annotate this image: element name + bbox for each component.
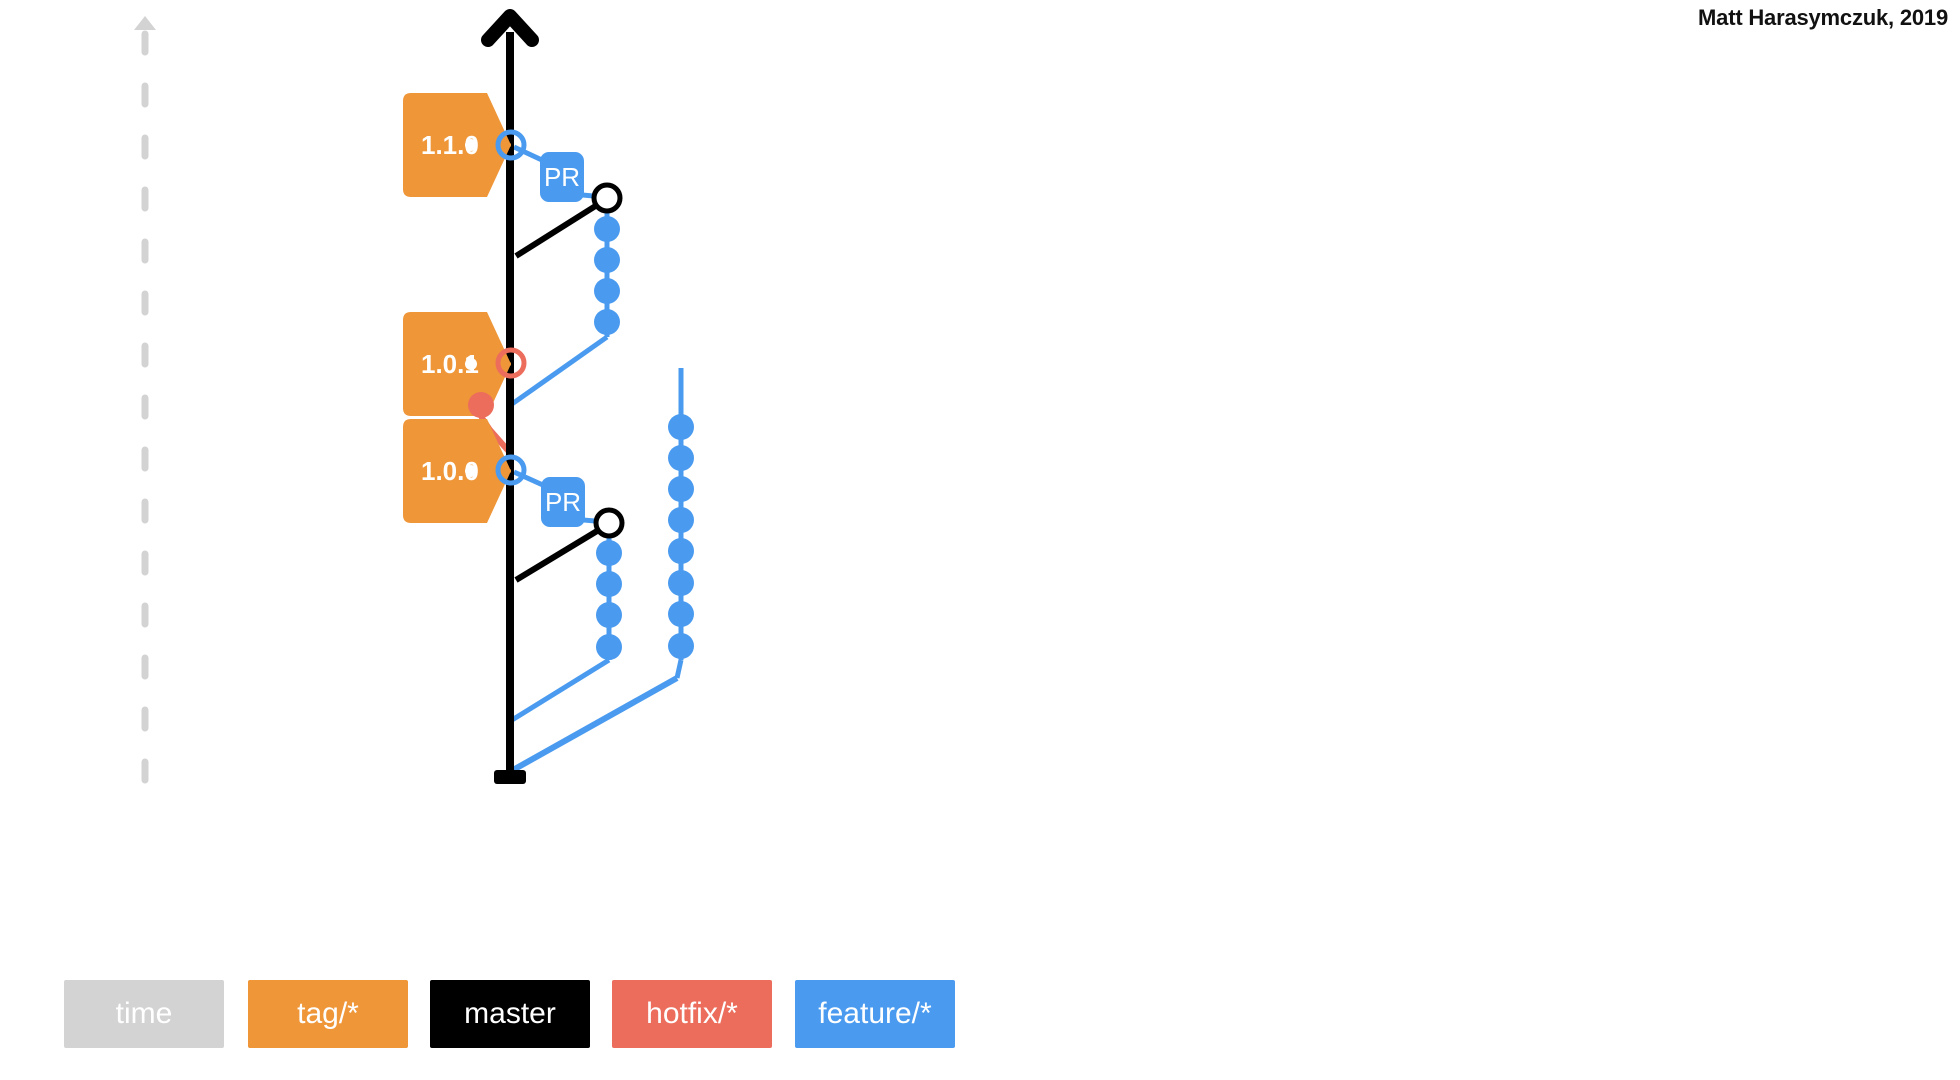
feature-upper-commit-4[interactable] — [594, 309, 620, 335]
legend-item-master: master — [430, 980, 590, 1048]
author-credit: Matt Harasymczuk, 2019 — [1698, 5, 1948, 31]
feature-right-commit-1[interactable] — [668, 414, 694, 440]
legend-item-label: time — [116, 997, 173, 1031]
feature-upper-commit-1[interactable] — [594, 216, 620, 242]
legend-item-label: feature/* — [818, 997, 931, 1031]
time-axis-arrow-icon — [134, 16, 156, 30]
branch-line-feature-upper — [516, 200, 605, 256]
git-flow-diagram: Matt Harasymczuk, 2019 1.1.01.0.11.0.0PR… — [0, 0, 1960, 1080]
feature-right-commit-4[interactable] — [668, 507, 694, 533]
legend-item-feature: feature/* — [795, 980, 955, 1048]
feature-upper-merge-line — [512, 337, 607, 404]
feature-lower-commit-2[interactable] — [596, 571, 622, 597]
legend-item-label: tag/* — [297, 997, 359, 1031]
pull-request-label-2: PR — [545, 487, 581, 517]
feature-right-elbow — [677, 660, 681, 678]
tag-label-1.0.1: 1.0.1 — [421, 349, 479, 379]
legend: timetag/*masterhotfix/*feature/* — [0, 980, 1960, 1080]
feature-lower-commit-1[interactable] — [596, 540, 622, 566]
branch-line-feature-lower — [516, 525, 607, 580]
feature-right-commit-3[interactable] — [668, 476, 694, 502]
legend-item-hotfix: hotfix/* — [612, 980, 772, 1048]
legend-item-label: master — [464, 997, 556, 1031]
tag-label-1.0.0: 1.0.0 — [421, 456, 479, 486]
feature-lower-merge-line — [512, 660, 609, 720]
feature-right-merge-line — [513, 678, 677, 770]
feature-right-commit-2[interactable] — [668, 445, 694, 471]
legend-item-label: hotfix/* — [646, 997, 738, 1031]
master-base-cap — [494, 770, 526, 784]
feature-upper-commit-2[interactable] — [594, 247, 620, 273]
branch-head-node-1[interactable] — [594, 185, 620, 211]
branch-head-node-2[interactable] — [596, 510, 622, 536]
legend-item-time: time — [64, 980, 224, 1048]
pull-request-label-1: PR — [544, 162, 580, 192]
feature-lower-commit-3[interactable] — [596, 602, 622, 628]
branch-graph: 1.1.01.0.11.0.0PRPR — [0, 0, 1960, 1080]
hotfix-commit-node[interactable] — [468, 392, 494, 418]
feature-upper-commit-3[interactable] — [594, 278, 620, 304]
feature-right-commit-5[interactable] — [668, 538, 694, 564]
feature-right-commit-7[interactable] — [668, 601, 694, 627]
feature-right-commit-6[interactable] — [668, 570, 694, 596]
feature-right-commit-8[interactable] — [668, 633, 694, 659]
tag-label-1.1.0: 1.1.0 — [421, 130, 479, 160]
legend-item-tag: tag/* — [248, 980, 408, 1048]
feature-lower-commit-4[interactable] — [596, 634, 622, 660]
